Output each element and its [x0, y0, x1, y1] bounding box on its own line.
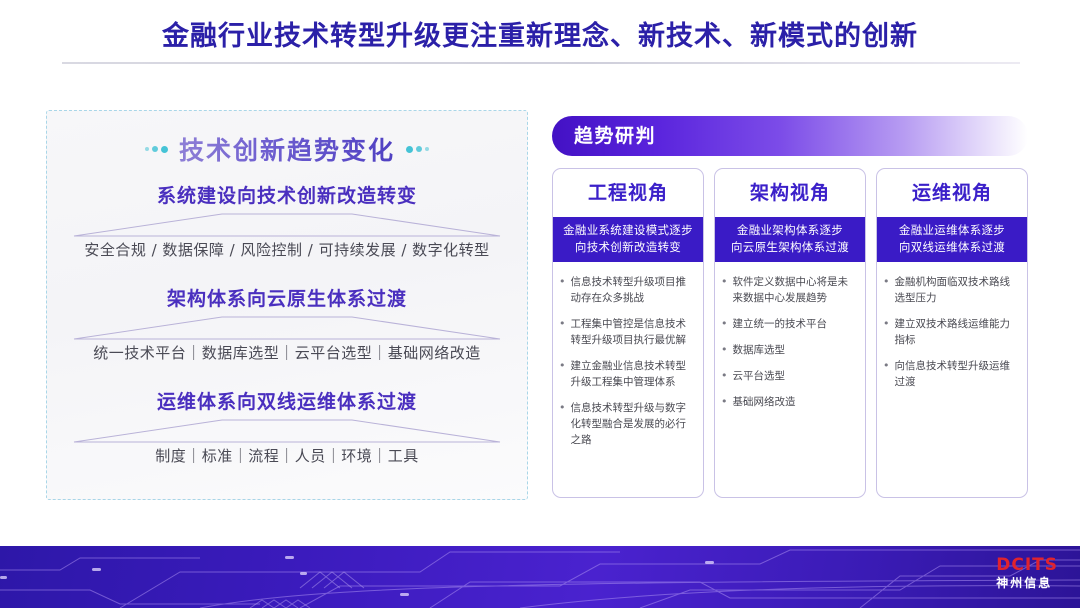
- footer-band: DCITS 神州信息: [0, 546, 1080, 608]
- list-item: •建立统一的技术平台: [721, 316, 856, 332]
- trend-change-heading-row: 技术创新趋势变化: [47, 131, 527, 167]
- list-item: •金融机构面临双技术路线选型压力: [883, 274, 1018, 306]
- perspective-card-title: 运维视角: [877, 169, 1027, 217]
- trend-change-heading: 技术创新趋势变化: [179, 131, 395, 167]
- list-item-label: 向信息技术转型升级运维过渡: [895, 358, 1019, 390]
- perspective-card[interactable]: 架构视角 金融业架构体系逐步 向云原生架构体系过渡 •软件定义数据中心将是未来数…: [714, 168, 866, 498]
- perspective-card-list: 工程视角 金融业系统建设模式逐步 向技术创新改造转变 •信息技术转型升级项目推动…: [552, 168, 1028, 498]
- circuit-pattern-icon: [0, 546, 1080, 608]
- perspective-card-band: 金融业系统建设模式逐步 向技术创新改造转变: [553, 217, 703, 262]
- trend-group: 架构体系向云原生体系过渡 统一技术平台｜数据库选型｜云平台选型｜基础网络改造: [47, 284, 527, 363]
- page-title-wrap: 金融行业技术转型升级更注重新理念、新技术、新模式的创新: [0, 14, 1080, 53]
- funnel-connector-icon: [72, 212, 502, 238]
- list-item-label: 信息技术转型升级项目推动存在众多挑战: [571, 274, 695, 306]
- list-item-label: 建立金融业信息技术转型升级工程集中管理体系: [571, 358, 695, 390]
- trend-judgement-banner-label: 趋势研判: [574, 116, 656, 156]
- bullet-dot-icon: •: [559, 400, 566, 448]
- list-item-label: 软件定义数据中心将是未来数据中心发展趋势: [733, 274, 857, 306]
- perspective-card-band-line: 金融业架构体系逐步: [721, 222, 859, 239]
- funnel-connector-icon: [72, 418, 502, 444]
- bullet-dot-icon: •: [721, 274, 728, 306]
- dcits-logo: DCITS 神州信息: [961, 557, 1058, 589]
- list-item: •基础网络改造: [721, 394, 856, 410]
- bullet-dot-icon: •: [883, 358, 890, 390]
- list-item-label: 云平台选型: [733, 368, 857, 384]
- bullet-dot-icon: •: [721, 316, 728, 332]
- trend-group: 系统建设向技术创新改造转变 安全合规 / 数据保障 / 风险控制 / 可持续发展…: [47, 181, 527, 260]
- list-item: •云平台选型: [721, 368, 856, 384]
- perspective-card[interactable]: 工程视角 金融业系统建设模式逐步 向技术创新改造转变 •信息技术转型升级项目推动…: [552, 168, 704, 498]
- title-divider: [62, 62, 1020, 64]
- three-dots-icon: [406, 146, 429, 153]
- list-item-label: 信息技术转型升级与数字化转型融合是发展的必行之路: [571, 400, 695, 448]
- list-item: •建立金融业信息技术转型升级工程集中管理体系: [559, 358, 694, 390]
- bullet-dot-icon: •: [883, 316, 890, 348]
- page-title: 金融行业技术转型升级更注重新理念、新技术、新模式的创新: [0, 14, 1080, 53]
- trend-group-heading: 架构体系向云原生体系过渡: [47, 284, 527, 311]
- trend-group-items: 安全合规 / 数据保障 / 风险控制 / 可持续发展 / 数字化转型: [47, 239, 527, 260]
- bullet-dot-icon: •: [883, 274, 890, 306]
- list-item-label: 基础网络改造: [733, 394, 857, 410]
- perspective-card-band-line: 向技术创新改造转变: [559, 239, 697, 256]
- bullet-dot-icon: •: [559, 274, 566, 306]
- list-item: •建立双技术路线运维能力指标: [883, 316, 1018, 348]
- bullet-dot-icon: •: [721, 368, 728, 384]
- perspective-card-band-line: 向云原生架构体系过渡: [721, 239, 859, 256]
- bullet-dot-icon: •: [559, 358, 566, 390]
- bullet-dot-icon: •: [721, 342, 728, 358]
- trend-group-items: 制度｜标准｜流程｜人员｜环境｜工具: [47, 445, 527, 466]
- trend-change-panel: 技术创新趋势变化 系统建设向技术创新改造转变 安全合规 / 数据保障 / 风险控…: [46, 110, 528, 500]
- bullet-dot-icon: •: [559, 316, 566, 348]
- trend-group: 运维体系向双线运维体系过渡 制度｜标准｜流程｜人员｜环境｜工具: [47, 387, 527, 466]
- three-dots-icon: [145, 146, 168, 153]
- trend-group-heading: 运维体系向双线运维体系过渡: [47, 387, 527, 414]
- trend-judgement-banner: 趋势研判: [552, 116, 1028, 156]
- perspective-card-bullets: •软件定义数据中心将是未来数据中心发展趋势 •建立统一的技术平台 •数据库选型 …: [715, 262, 865, 497]
- bullet-dot-icon: •: [721, 394, 728, 410]
- perspective-card-band-line: 金融业运维体系逐步: [883, 222, 1021, 239]
- slide-root: 金融行业技术转型升级更注重新理念、新技术、新模式的创新 技术创新趋势变化 系统建…: [0, 0, 1080, 608]
- list-item-label: 工程集中管控是信息技术转型升级项目执行最优解: [571, 316, 695, 348]
- perspective-card-band: 金融业架构体系逐步 向云原生架构体系过渡: [715, 217, 865, 262]
- list-item: •信息技术转型升级项目推动存在众多挑战: [559, 274, 694, 306]
- perspective-card-bullets: •金融机构面临双技术路线选型压力 •建立双技术路线运维能力指标 •向信息技术转型…: [877, 262, 1027, 497]
- list-item: •信息技术转型升级与数字化转型融合是发展的必行之路: [559, 400, 694, 448]
- list-item: •软件定义数据中心将是未来数据中心发展趋势: [721, 274, 856, 306]
- list-item-label: 数据库选型: [733, 342, 857, 358]
- list-item-label: 建立统一的技术平台: [733, 316, 857, 332]
- list-item: •向信息技术转型升级运维过渡: [883, 358, 1018, 390]
- funnel-connector-icon: [72, 315, 502, 341]
- list-item: •工程集中管控是信息技术转型升级项目执行最优解: [559, 316, 694, 348]
- perspective-card-band-line: 金融业系统建设模式逐步: [559, 222, 697, 239]
- list-item: •数据库选型: [721, 342, 856, 358]
- perspective-card-band-line: 向双线运维体系过渡: [883, 239, 1021, 256]
- list-item-label: 建立双技术路线运维能力指标: [895, 316, 1019, 348]
- perspective-card-band: 金融业运维体系逐步 向双线运维体系过渡: [877, 217, 1027, 262]
- perspective-card-title: 工程视角: [553, 169, 703, 217]
- perspective-card[interactable]: 运维视角 金融业运维体系逐步 向双线运维体系过渡 •金融机构面临双技术路线选型压…: [876, 168, 1028, 498]
- trend-group-items: 统一技术平台｜数据库选型｜云平台选型｜基础网络改造: [47, 342, 527, 363]
- trend-group-heading: 系统建设向技术创新改造转变: [47, 181, 527, 208]
- perspective-card-title: 架构视角: [715, 169, 865, 217]
- list-item-label: 金融机构面临双技术路线选型压力: [895, 274, 1019, 306]
- perspective-card-bullets: •信息技术转型升级项目推动存在众多挑战 •工程集中管控是信息技术转型升级项目执行…: [553, 262, 703, 497]
- dcits-swirl-icon: [961, 560, 991, 586]
